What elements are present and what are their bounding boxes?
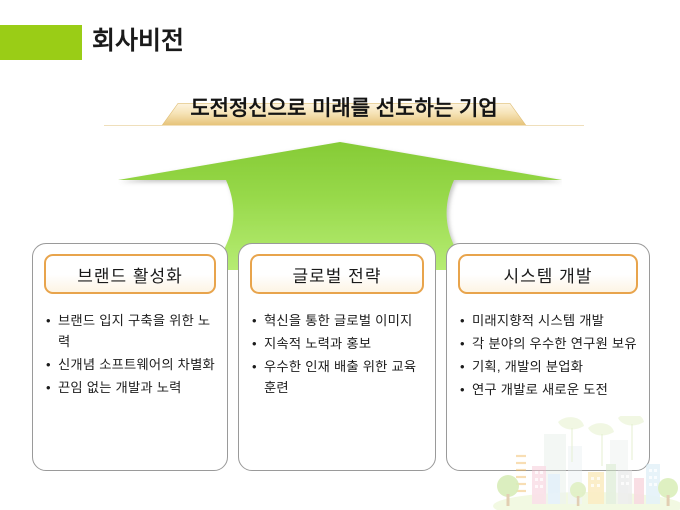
list-item-text: 끈임 없는 개발과 노력 <box>58 380 182 395</box>
bullet-dot-icon: • <box>460 333 465 354</box>
card-header-label: 글로벌 전략 <box>293 262 382 287</box>
list-item: • 끈임 없는 개발과 노력 <box>45 377 219 398</box>
bullet-dot-icon: • <box>46 377 51 398</box>
bullet-dot-icon: • <box>46 310 51 331</box>
bullet-dot-icon: • <box>252 310 257 331</box>
list-item: • 브랜드 입지 구축을 위한 노력 <box>45 310 219 352</box>
list-item-text: 브랜드 입지 구축을 위한 노력 <box>58 313 210 349</box>
list-item: • 각 분야의 우수한 연구원 보유 <box>459 333 641 354</box>
card-header: 브랜드 활성화 <box>44 254 216 294</box>
list-item-text: 우수한 인재 배출 위한 교육 훈련 <box>264 359 416 395</box>
list-item-text: 각 분야의 우수한 연구원 보유 <box>472 336 637 351</box>
title-accent-bar <box>0 25 82 60</box>
list-item-text: 연구 개발로 새로운 도전 <box>472 382 608 397</box>
bullet-dot-icon: • <box>460 356 465 377</box>
bullet-dot-icon: • <box>46 354 51 375</box>
card-header: 글로벌 전략 <box>250 254 424 294</box>
list-item: • 지속적 노력과 홍보 <box>251 333 427 354</box>
card-bullet-list: • 혁신을 통한 글로벌 이미지 • 지속적 노력과 홍보 • 우수한 인재 배… <box>251 310 427 400</box>
list-item-text: 신개념 소프트웨어의 차별화 <box>58 357 215 372</box>
page-title: 회사비전 <box>92 22 184 60</box>
slide-canvas: 회사비전 도전정신으로 미래를 선도하는 기업 <box>0 0 680 510</box>
bullet-dot-icon: • <box>252 356 257 377</box>
slogan-banner: 도전정신으로 미래를 선도하는 기업 <box>104 100 584 140</box>
list-item-text: 지속적 노력과 홍보 <box>264 336 371 351</box>
list-item-text: 미래지향적 시스템 개발 <box>472 313 604 328</box>
list-item: • 미래지향적 시스템 개발 <box>459 310 641 331</box>
card-system[interactable]: 시스템 개발 • 미래지향적 시스템 개발 • 각 분야의 우수한 연구원 보유… <box>446 243 650 471</box>
card-brand[interactable]: 브랜드 활성화 • 브랜드 입지 구축을 위한 노력 • 신개념 소프트웨어의 … <box>32 243 228 471</box>
card-header: 시스템 개발 <box>458 254 638 294</box>
bullet-dot-icon: • <box>460 379 465 400</box>
card-global[interactable]: 글로벌 전략 • 혁신을 통한 글로벌 이미지 • 지속적 노력과 홍보 • 우… <box>238 243 436 471</box>
card-bullet-list: • 브랜드 입지 구축을 위한 노력 • 신개념 소프트웨어의 차별화 • 끈임… <box>45 310 219 400</box>
list-item: • 혁신을 통한 글로벌 이미지 <box>251 310 427 331</box>
bullet-dot-icon: • <box>460 310 465 331</box>
card-header-label: 시스템 개발 <box>504 262 593 287</box>
list-item: • 신개념 소프트웨어의 차별화 <box>45 354 219 375</box>
list-item: • 우수한 인재 배출 위한 교육 훈련 <box>251 356 427 398</box>
list-item-text: 기획, 개발의 분업화 <box>472 359 583 374</box>
list-item-text: 혁신을 통한 글로벌 이미지 <box>264 313 412 328</box>
card-bullet-list: • 미래지향적 시스템 개발 • 각 분야의 우수한 연구원 보유 • 기획, … <box>459 310 641 402</box>
list-item: • 연구 개발로 새로운 도전 <box>459 379 641 400</box>
slogan-text: 도전정신으로 미래를 선도하는 기업 <box>104 92 584 126</box>
card-header-label: 브랜드 활성화 <box>77 262 183 287</box>
bullet-dot-icon: • <box>252 333 257 354</box>
list-item: • 기획, 개발의 분업화 <box>459 356 641 377</box>
